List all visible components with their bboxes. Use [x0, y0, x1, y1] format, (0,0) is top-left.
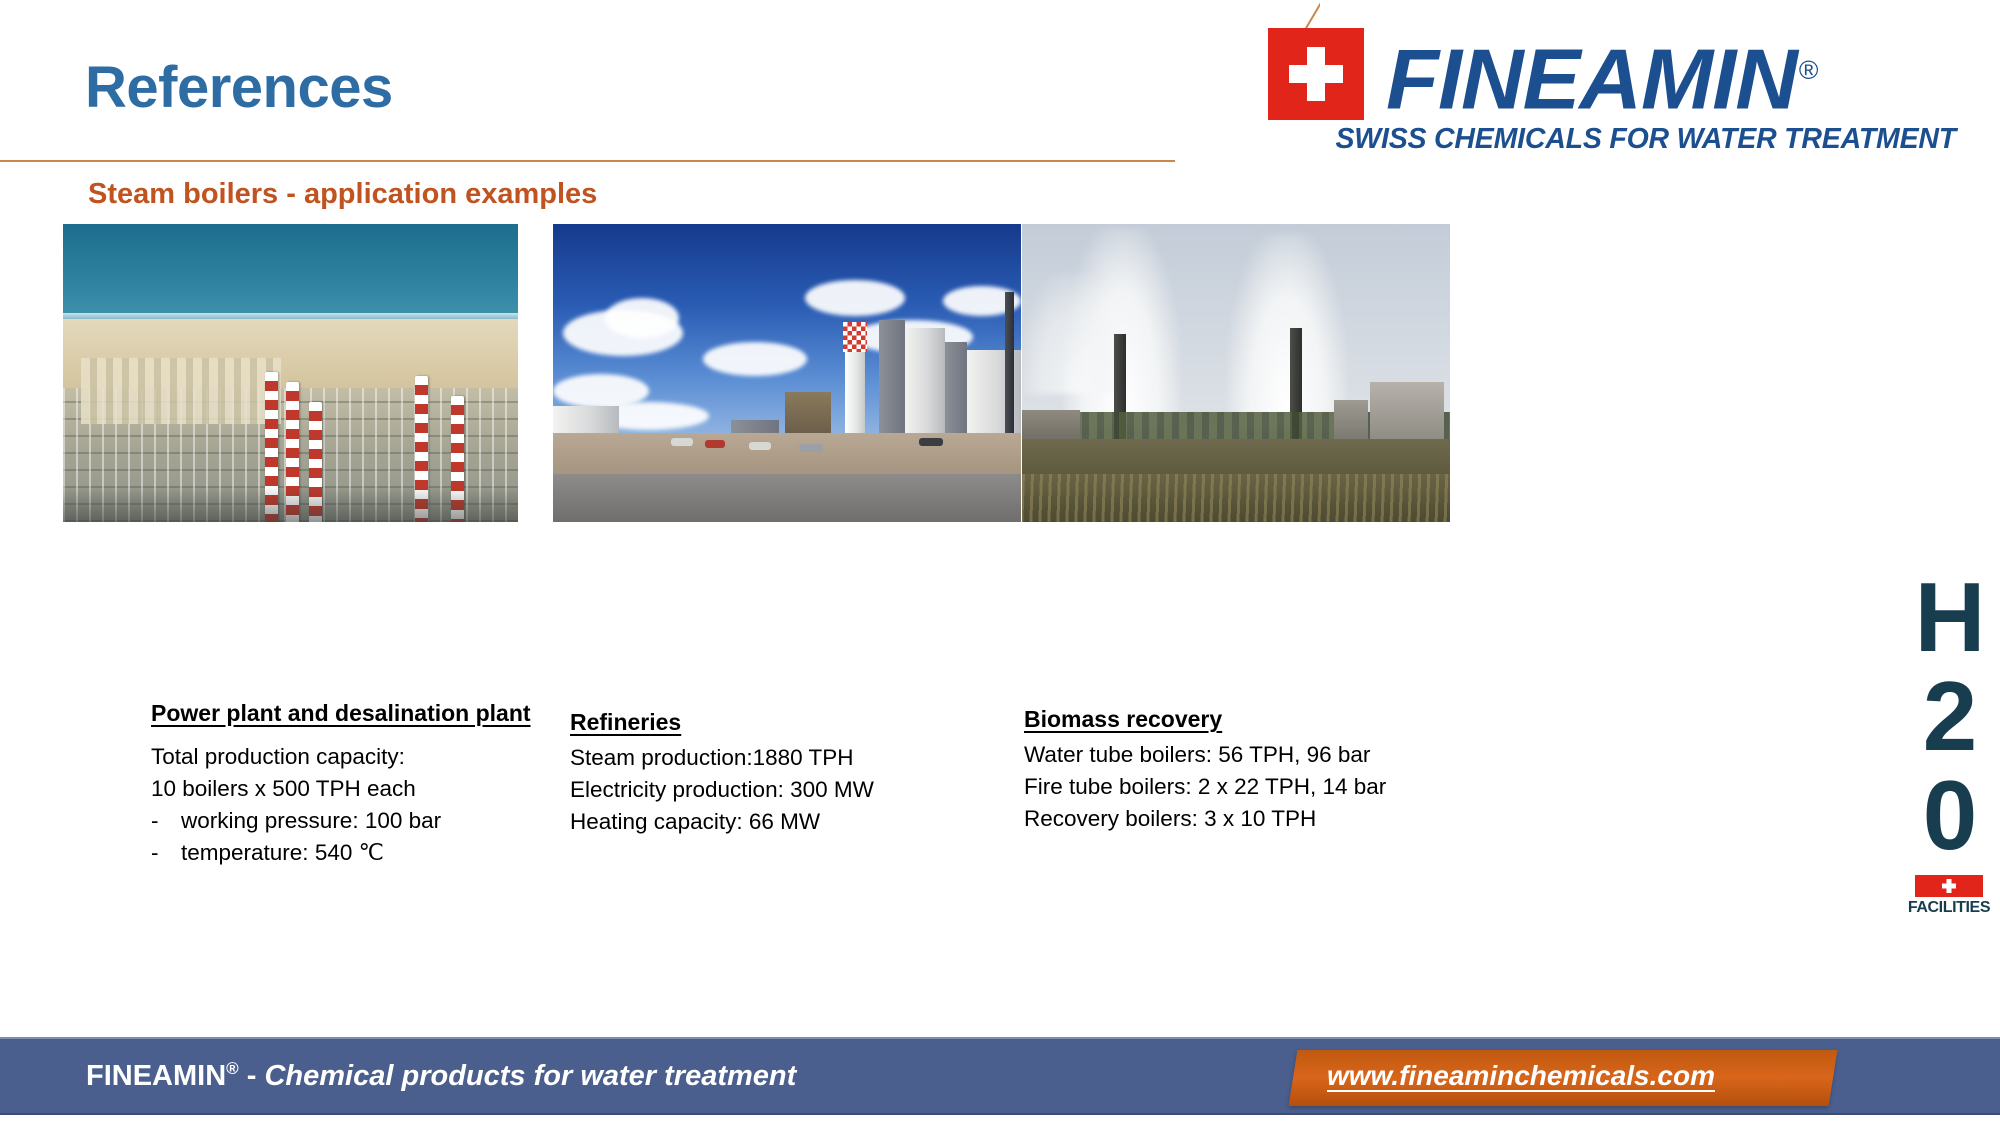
- caption-line: 10 boilers x 500 TPH each: [151, 773, 531, 805]
- footer-bar: FINEAMIN® - Chemical products for water …: [0, 1037, 2000, 1115]
- caption-line: Total production capacity:: [151, 741, 531, 773]
- footer-registered-mark: ®: [226, 1059, 239, 1078]
- bullet-text: temperature: 540 ℃: [181, 837, 384, 869]
- page-subtitle: Steam boilers - application examples: [88, 178, 597, 211]
- photo-power-desalination-plant: [63, 224, 518, 522]
- swiss-flag-icon: [1915, 875, 1983, 897]
- caption-bullet: - temperature: 540 ℃: [151, 837, 531, 869]
- photo-refinery: [553, 224, 1021, 522]
- footer-separator: -: [239, 1060, 265, 1092]
- header-divider-line: [0, 160, 1175, 162]
- fineamin-logo: FINEAMIN® SWISS CHEMICALS FOR WATER TREA…: [1268, 28, 1956, 146]
- h2o-sublabel: FACILITIES: [1906, 899, 1992, 917]
- caption-bullet: - working pressure: 100 bar: [151, 805, 531, 837]
- bullet-dash: -: [151, 805, 181, 837]
- caption-line: Electricity production: 300 MW: [570, 774, 874, 806]
- h2o-digit-2: 2: [1906, 667, 1992, 766]
- caption-heading: Power plant and desalination plant: [151, 700, 531, 727]
- h2o-digit-0: 0: [1906, 766, 1992, 865]
- caption-heading: Refineries: [570, 709, 874, 736]
- caption-line: Fire tube boilers: 2 x 22 TPH, 14 bar: [1024, 771, 1386, 803]
- footer-tagline: FINEAMIN® - Chemical products for water …: [86, 1059, 796, 1093]
- h2o-facilities-logo: H 2 0 FACILITIES: [1906, 568, 1992, 917]
- footer-brand: FINEAMIN: [86, 1060, 226, 1092]
- footer-tagline-text: Chemical products for water treatment: [264, 1060, 796, 1092]
- caption-heading: Biomass recovery: [1024, 706, 1386, 733]
- caption-biomass-recovery: Biomass recovery Water tube boilers: 56 …: [1024, 706, 1386, 835]
- caption-line: Water tube boilers: 56 TPH, 96 bar: [1024, 739, 1386, 771]
- logo-tagline: SWISS CHEMICALS FOR WATER TREATMENT: [1268, 123, 1956, 156]
- caption-line: Steam production:1880 TPH: [570, 742, 874, 774]
- logo-registered-mark: ®: [1799, 55, 1818, 85]
- photo-biomass-recovery: [1022, 224, 1450, 522]
- slide-root: References Steam boilers - application e…: [0, 0, 2000, 1125]
- bullet-dash: -: [151, 837, 181, 869]
- website-link[interactable]: www.fineaminchemicals.com: [1327, 1060, 1715, 1092]
- swiss-flag-icon: [1268, 28, 1364, 120]
- caption-power-desalination: Power plant and desalination plant Total…: [151, 700, 531, 869]
- page-title: References: [85, 54, 393, 121]
- caption-refineries: Refineries Steam production:1880 TPH Ele…: [570, 709, 874, 838]
- logo-wordmark-text: FINEAMIN: [1386, 32, 1797, 127]
- bullet-text: working pressure: 100 bar: [181, 805, 441, 837]
- logo-wordmark: FINEAMIN®: [1386, 28, 1817, 122]
- caption-line: Heating capacity: 66 MW: [570, 806, 874, 838]
- h2o-letter-h: H: [1906, 568, 1992, 667]
- caption-line: Recovery boilers: 3 x 10 TPH: [1024, 803, 1386, 835]
